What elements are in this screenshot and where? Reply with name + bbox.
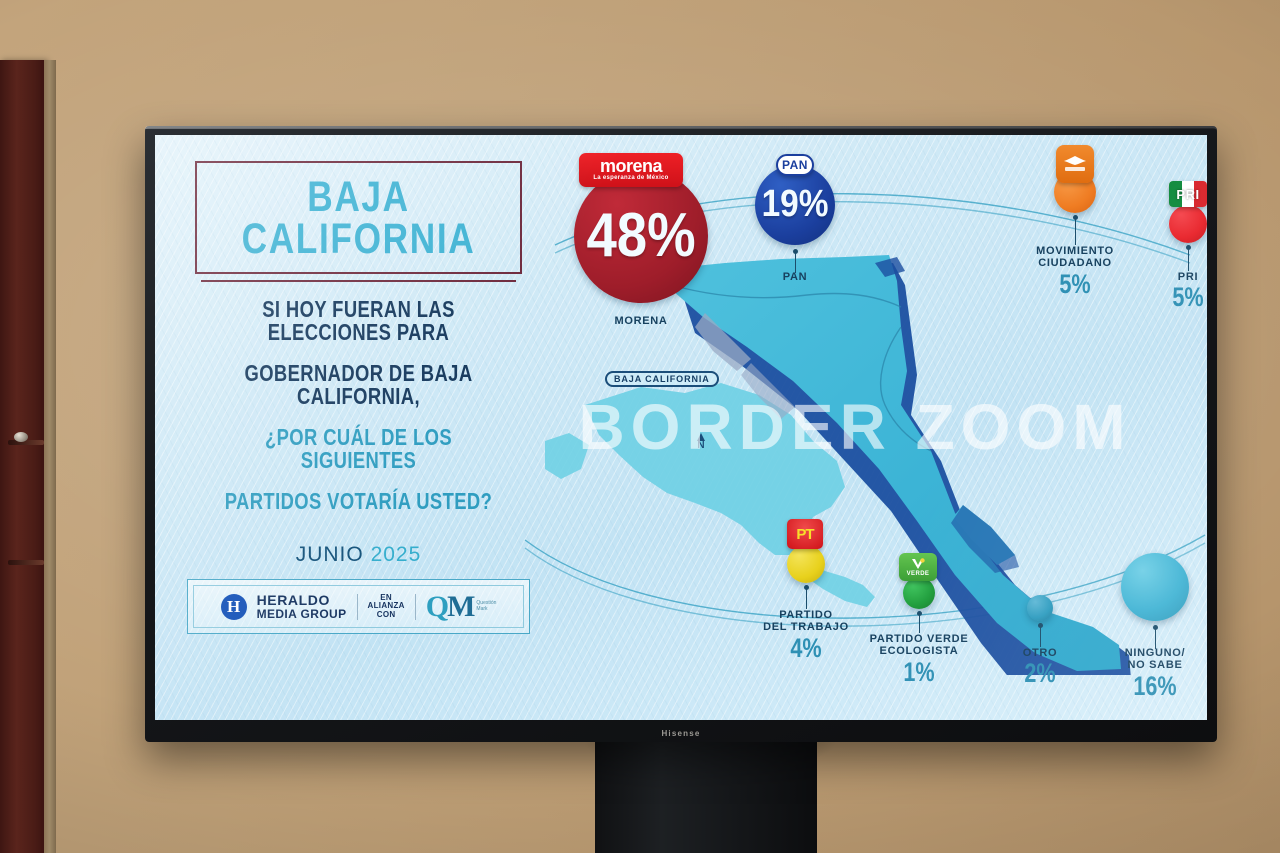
- pvem-leader-line: [919, 613, 920, 633]
- footer-logo-bar: H HERALDO MEDIA GROUP EN ALIANZA CON: [187, 579, 530, 634]
- qm-subtitle: Questión Mark: [476, 601, 496, 613]
- mc-leader-line: [1075, 217, 1076, 245]
- tv-brand-label: Hisense: [661, 729, 700, 738]
- door-jamb: [44, 60, 56, 853]
- alianza-note: EN ALIANZA CON: [368, 594, 405, 619]
- chart-node-partido-verde-ecologista[interactable]: VERDE PARTIDO VERDE ECOLOGISTA 1%: [849, 577, 989, 686]
- pan-percent: 19%: [762, 188, 829, 221]
- mc-label: MOVIMIENTO CIUDADANO: [1010, 245, 1140, 270]
- page-title-line-2: CALIFORNIA: [234, 219, 482, 261]
- door-hinge-lower: [8, 560, 44, 565]
- pvem-leader-dot: [917, 611, 922, 616]
- pt-percent: 4%: [754, 635, 858, 662]
- pri-leader-line: [1188, 247, 1189, 271]
- pvem-bubble[interactable]: [903, 577, 935, 609]
- pan-leader-dot: [793, 249, 798, 254]
- morena-label: MORENA: [561, 315, 721, 327]
- qm-letter-m: M: [447, 590, 473, 623]
- survey-date: JUNIO 2025: [181, 543, 536, 567]
- heraldo-line-1: HERALDO: [257, 593, 347, 607]
- pan-logo-icon: PAN: [776, 154, 814, 176]
- qm-letter-q: Q: [426, 590, 447, 623]
- pt-bubble[interactable]: [787, 545, 825, 583]
- tv-screen: BAJA CALIFORNIA SI HOY FUERAN LAS ELECCI…: [155, 135, 1207, 720]
- state-title-box: BAJA CALIFORNIA: [195, 161, 522, 274]
- question-line-3: ¿POR CUÁL DE LOS SIGUIENTES: [217, 426, 501, 472]
- ninguno-bubble[interactable]: [1121, 553, 1189, 621]
- heraldo-h-icon: H: [221, 594, 247, 620]
- survey-year: 2025: [371, 543, 422, 566]
- photo-scene: Hisense BAJA CALIFORNIA SI HOY FUERAN LA…: [0, 0, 1280, 853]
- chart-node-pri[interactable]: PRI PRI 5%: [1133, 205, 1207, 311]
- tv-stand: [595, 742, 817, 853]
- heraldo-wordmark: HERALDO MEDIA GROUP: [257, 593, 347, 620]
- qm-sub-line-2: Mark: [476, 607, 496, 613]
- footer-divider-left: [357, 594, 358, 620]
- morena-percent: 48%: [586, 209, 695, 264]
- qm-logo: QM Questión Mark: [426, 595, 497, 619]
- compass-north-label: N: [697, 441, 705, 451]
- chart-node-movimiento-ciudadano[interactable]: MOVIMIENTO CIUDADANO 5%: [1010, 171, 1140, 298]
- question-line-2: GOBERNADOR DE BAJA CALIFORNIA,: [217, 362, 501, 408]
- otro-bubble[interactable]: [1027, 595, 1053, 621]
- chart-node-pan[interactable]: 19% PAN PAN: [735, 165, 855, 283]
- mc-logo-icon: [1056, 145, 1094, 183]
- pri-logo-word: PRI: [1176, 187, 1199, 202]
- pvem-label: PARTIDO VERDE ECOLOGISTA: [849, 633, 989, 658]
- pt-logo-icon: PT: [787, 519, 823, 549]
- pt-logo-word: PT: [796, 526, 813, 543]
- compass-icon: N: [697, 433, 705, 451]
- page-title-line-1: BAJA: [234, 177, 482, 219]
- ninguno-label: NINGUNO/ NO SABE: [1085, 647, 1207, 672]
- mc-leader-dot: [1073, 215, 1078, 220]
- map-region-tag: BAJA CALIFORNIA: [605, 371, 719, 387]
- otro-percent: 2%: [996, 660, 1084, 687]
- otro-leader-dot: [1038, 623, 1043, 628]
- footer-divider-right: [415, 594, 416, 620]
- pri-bubble[interactable]: [1169, 205, 1207, 243]
- pri-leader-dot: [1186, 245, 1191, 250]
- pvem-logo-icon: VERDE: [899, 553, 937, 581]
- question-line-1: SI HOY FUERAN LAS ELECCIONES PARA: [217, 298, 501, 344]
- morena-logo-tagline: La esperanza de México: [593, 175, 668, 182]
- pvem-percent: 1%: [863, 659, 975, 686]
- tv-bezel-highlight: [145, 126, 1217, 129]
- title-underline-rule: [201, 280, 516, 282]
- door-knob: [14, 432, 28, 442]
- chart-node-morena[interactable]: 48% morena La esperanza de México MORENA: [561, 169, 721, 327]
- door-frame: [0, 60, 46, 853]
- morena-logo-word: morena: [600, 157, 662, 175]
- chart-node-otro[interactable]: OTRO 2%: [985, 595, 1095, 687]
- qm-monogram: QM: [426, 595, 474, 619]
- otro-leader-line: [1040, 625, 1041, 647]
- pan-logo-word: PAN: [782, 158, 808, 172]
- door-hinge-upper: [8, 440, 44, 445]
- survey-month: JUNIO: [296, 543, 364, 566]
- heraldo-line-2: MEDIA GROUP: [257, 608, 347, 620]
- television: Hisense BAJA CALIFORNIA SI HOY FUERAN LA…: [145, 126, 1217, 742]
- pan-bubble[interactable]: 19%: [755, 165, 835, 245]
- pri-logo-icon: PRI: [1169, 181, 1207, 207]
- alianza-line-3: CON: [368, 611, 405, 619]
- slide-chart-stage: BAJA CALIFORNIA N BORDER ZOOM 48% morena…: [545, 135, 1207, 720]
- pri-percent: 5%: [1144, 284, 1207, 311]
- morena-logo-icon: morena La esperanza de México: [579, 153, 683, 187]
- poll-question: SI HOY FUERAN LAS ELECCIONES PARA GOBERN…: [181, 298, 536, 513]
- pan-leader-line: [795, 251, 796, 273]
- pt-leader-line: [806, 587, 807, 609]
- ninguno-leader-dot: [1153, 625, 1158, 630]
- ninguno-leader-line: [1155, 627, 1156, 649]
- pt-leader-dot: [804, 585, 809, 590]
- morena-bubble[interactable]: 48%: [574, 169, 708, 303]
- question-line-4: PARTIDOS VOTARÍA USTED?: [217, 490, 501, 513]
- footer-logo-row: H HERALDO MEDIA GROUP EN ALIANZA CON: [193, 585, 524, 628]
- chart-node-ninguno-no-sabe[interactable]: NINGUNO/ NO SABE 16%: [1085, 553, 1207, 700]
- pvem-logo-word: VERDE: [907, 571, 930, 577]
- slide-left-column: BAJA CALIFORNIA SI HOY FUERAN LAS ELECCI…: [181, 161, 536, 634]
- ninguno-percent: 16%: [1099, 673, 1207, 700]
- mc-percent: 5%: [1023, 271, 1127, 298]
